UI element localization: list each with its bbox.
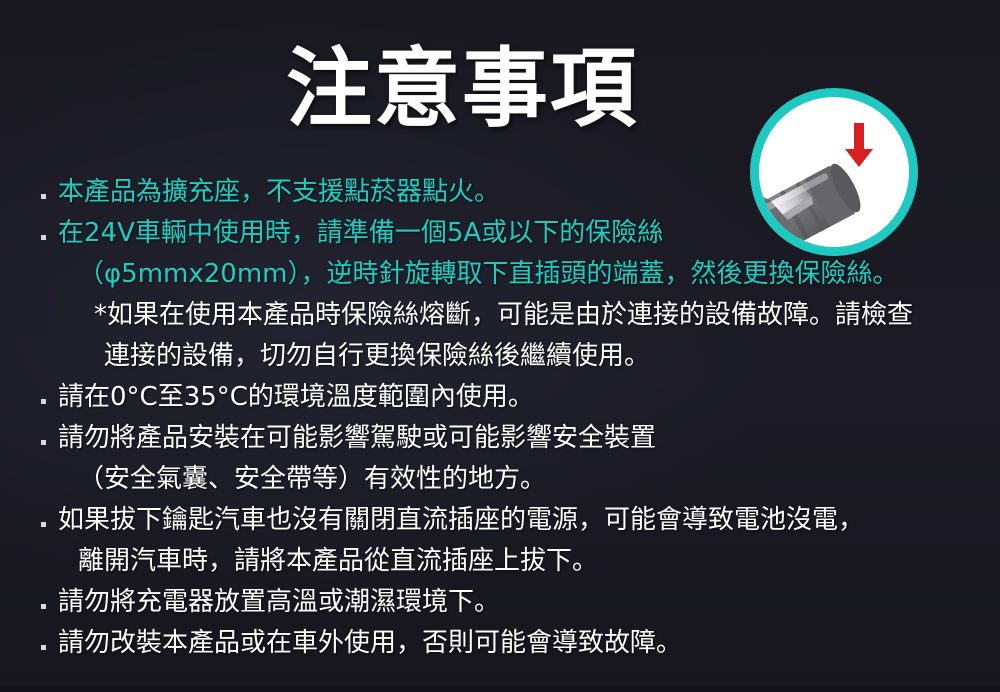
note-line: 如果拔下鑰匙汽車也沒有關閉直流插座的電源，可能會導致電池沒電， <box>38 500 988 541</box>
note-text: 離開汽車時，請將本產品從直流插座上拔下。 <box>58 541 988 582</box>
bullet-marker-icon <box>38 623 58 664</box>
note-line: *如果在使用本產品時保險絲熔斷，可能是由於連接的設備故障。請檢查 <box>38 295 988 336</box>
bullet-marker-icon <box>38 213 58 254</box>
note-text: 請勿改裝本產品或在車外使用，否則可能會導致故障。 <box>58 623 988 664</box>
notes-list: 本產品為擴充座，不支援點菸器點火。在24V車輛中使用時，請準備一個5A或以下的保… <box>38 172 988 664</box>
note-text: 本產品為擴充座，不支援點菸器點火。 <box>58 172 988 213</box>
bullet-marker-icon <box>38 172 58 213</box>
note-text: 請勿將產品安裝在可能影響駕駛或可能影響安全裝置 <box>58 418 988 459</box>
note-line: 連接的設備，切勿自行更換保險絲後繼續使用。 <box>38 336 988 377</box>
bullet-marker-icon <box>38 500 58 541</box>
note-text: （φ5mmx20mm），逆時針旋轉取下直插頭的端蓋，然後更換保險絲。 <box>58 254 988 295</box>
bullet-dot <box>41 399 46 404</box>
note-line: （φ5mmx20mm），逆時針旋轉取下直插頭的端蓋，然後更換保險絲。 <box>38 254 988 295</box>
page-title: 注意事項 <box>286 46 638 132</box>
bullet-marker-icon <box>38 295 58 336</box>
bullet-marker-icon <box>38 254 58 295</box>
note-text: 在24V車輛中使用時，請準備一個5A或以下的保險絲 <box>58 213 988 254</box>
note-line: 請勿改裝本產品或在車外使用，否則可能會導致故障。 <box>38 623 988 664</box>
notice-panel: 注意事項 <box>0 0 1000 692</box>
note-text: 請在0°C至35°C的環境溫度範圍內使用。 <box>58 377 988 418</box>
note-text: 連接的設備，切勿自行更換保險絲後繼續使用。 <box>58 336 988 377</box>
note-line: 請勿將產品安裝在可能影響駕駛或可能影響安全裝置 <box>38 418 988 459</box>
note-line: 本產品為擴充座，不支援點菸器點火。 <box>38 172 988 213</box>
bullet-marker-icon <box>38 541 58 582</box>
bullet-dot <box>41 235 46 240</box>
bullet-dot <box>41 440 46 445</box>
bullet-marker-icon <box>38 418 58 459</box>
note-text: *如果在使用本產品時保險絲熔斷，可能是由於連接的設備故障。請檢查 <box>58 295 988 336</box>
note-line: 離開汽車時，請將本產品從直流插座上拔下。 <box>38 541 988 582</box>
note-text: 如果拔下鑰匙汽車也沒有關閉直流插座的電源，可能會導致電池沒電， <box>58 500 988 541</box>
note-line: 在24V車輛中使用時，請準備一個5A或以下的保險絲 <box>38 213 988 254</box>
bullet-marker-icon <box>38 336 58 377</box>
bullet-dot <box>41 194 46 199</box>
note-line: 請在0°C至35°C的環境溫度範圍內使用。 <box>38 377 988 418</box>
bullet-dot <box>41 522 46 527</box>
bullet-dot <box>41 604 46 609</box>
bullet-dot <box>41 645 46 650</box>
note-text: 請勿將充電器放置高溫或潮濕環境下。 <box>58 582 988 623</box>
note-line: 請勿將充電器放置高溫或潮濕環境下。 <box>38 582 988 623</box>
note-line: （安全氣囊、安全帶等）有效性的地方。 <box>38 459 988 500</box>
note-text: （安全氣囊、安全帶等）有效性的地方。 <box>58 459 988 500</box>
down-arrow-icon <box>845 123 873 167</box>
bullet-marker-icon <box>38 459 58 500</box>
bullet-marker-icon <box>38 582 58 623</box>
bullet-marker-icon <box>38 377 58 418</box>
